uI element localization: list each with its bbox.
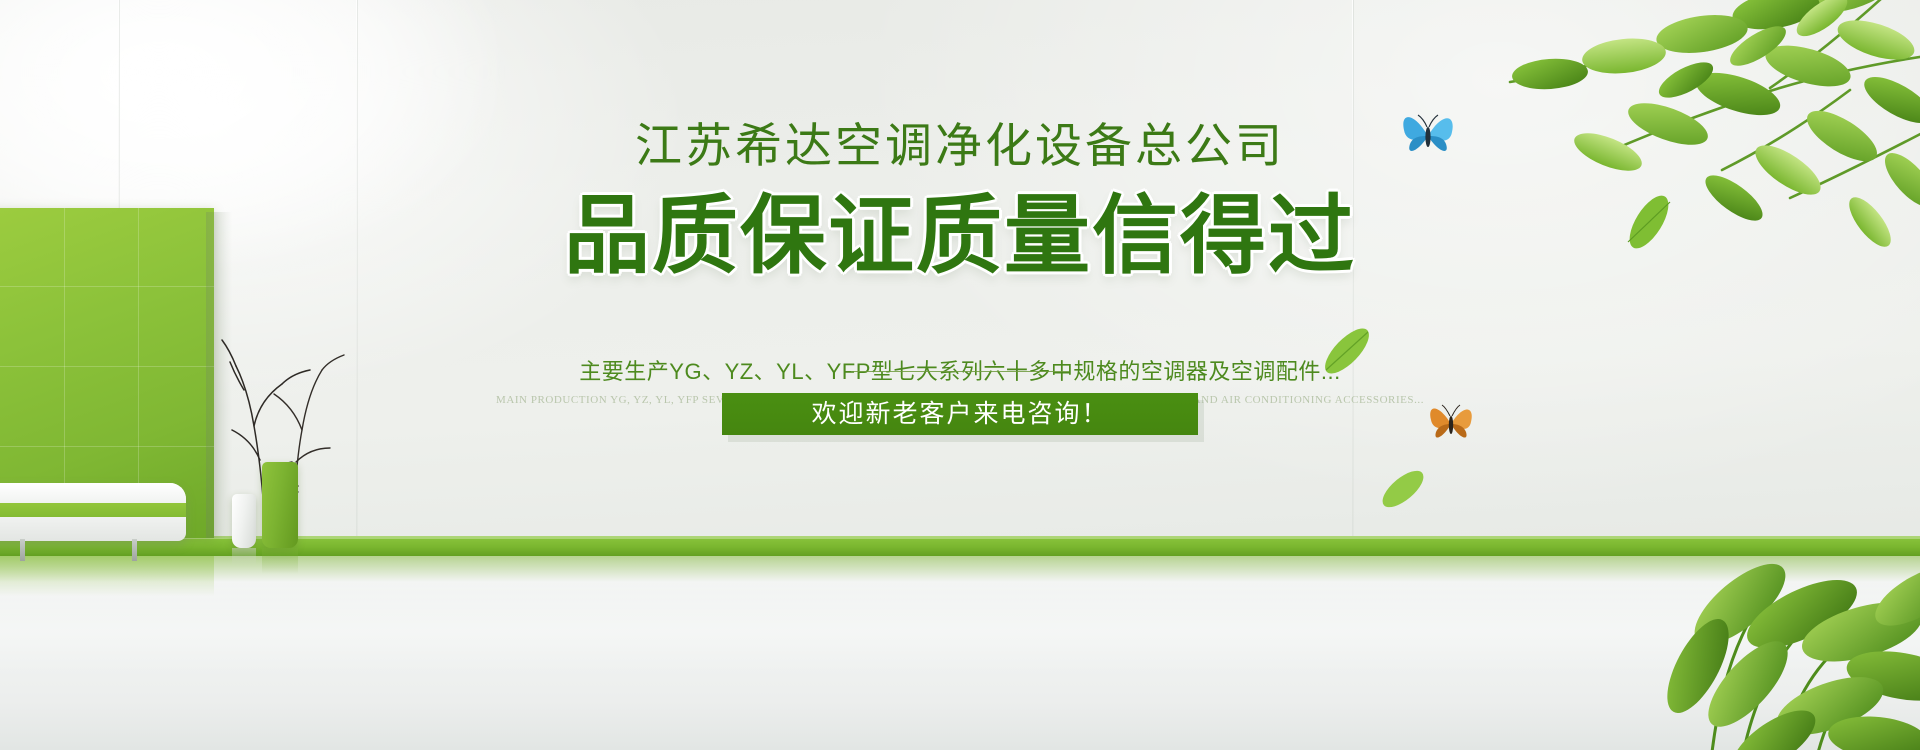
hero-banner: 江苏希达空调净化设备总公司 品质保证质量信得过 主要生产YG、YZ、YL、YFP… — [0, 0, 1920, 750]
company-name: 江苏希达空调净化设备总公司 — [0, 118, 1920, 174]
product-description-cn: 主要生产YG、YZ、YL、YFP型七大系列六十多中规格的空调器及空调配件... — [0, 357, 1920, 387]
divider-rule — [851, 371, 1069, 372]
contact-cta-button[interactable]: 欢迎新老客户来电咨询！ — [722, 393, 1198, 435]
headline-slogan: 品质保证质量信得过 — [0, 186, 1920, 286]
banner-copy: 江苏希达空调净化设备总公司 品质保证质量信得过 主要生产YG、YZ、YL、YFP… — [0, 0, 1920, 750]
